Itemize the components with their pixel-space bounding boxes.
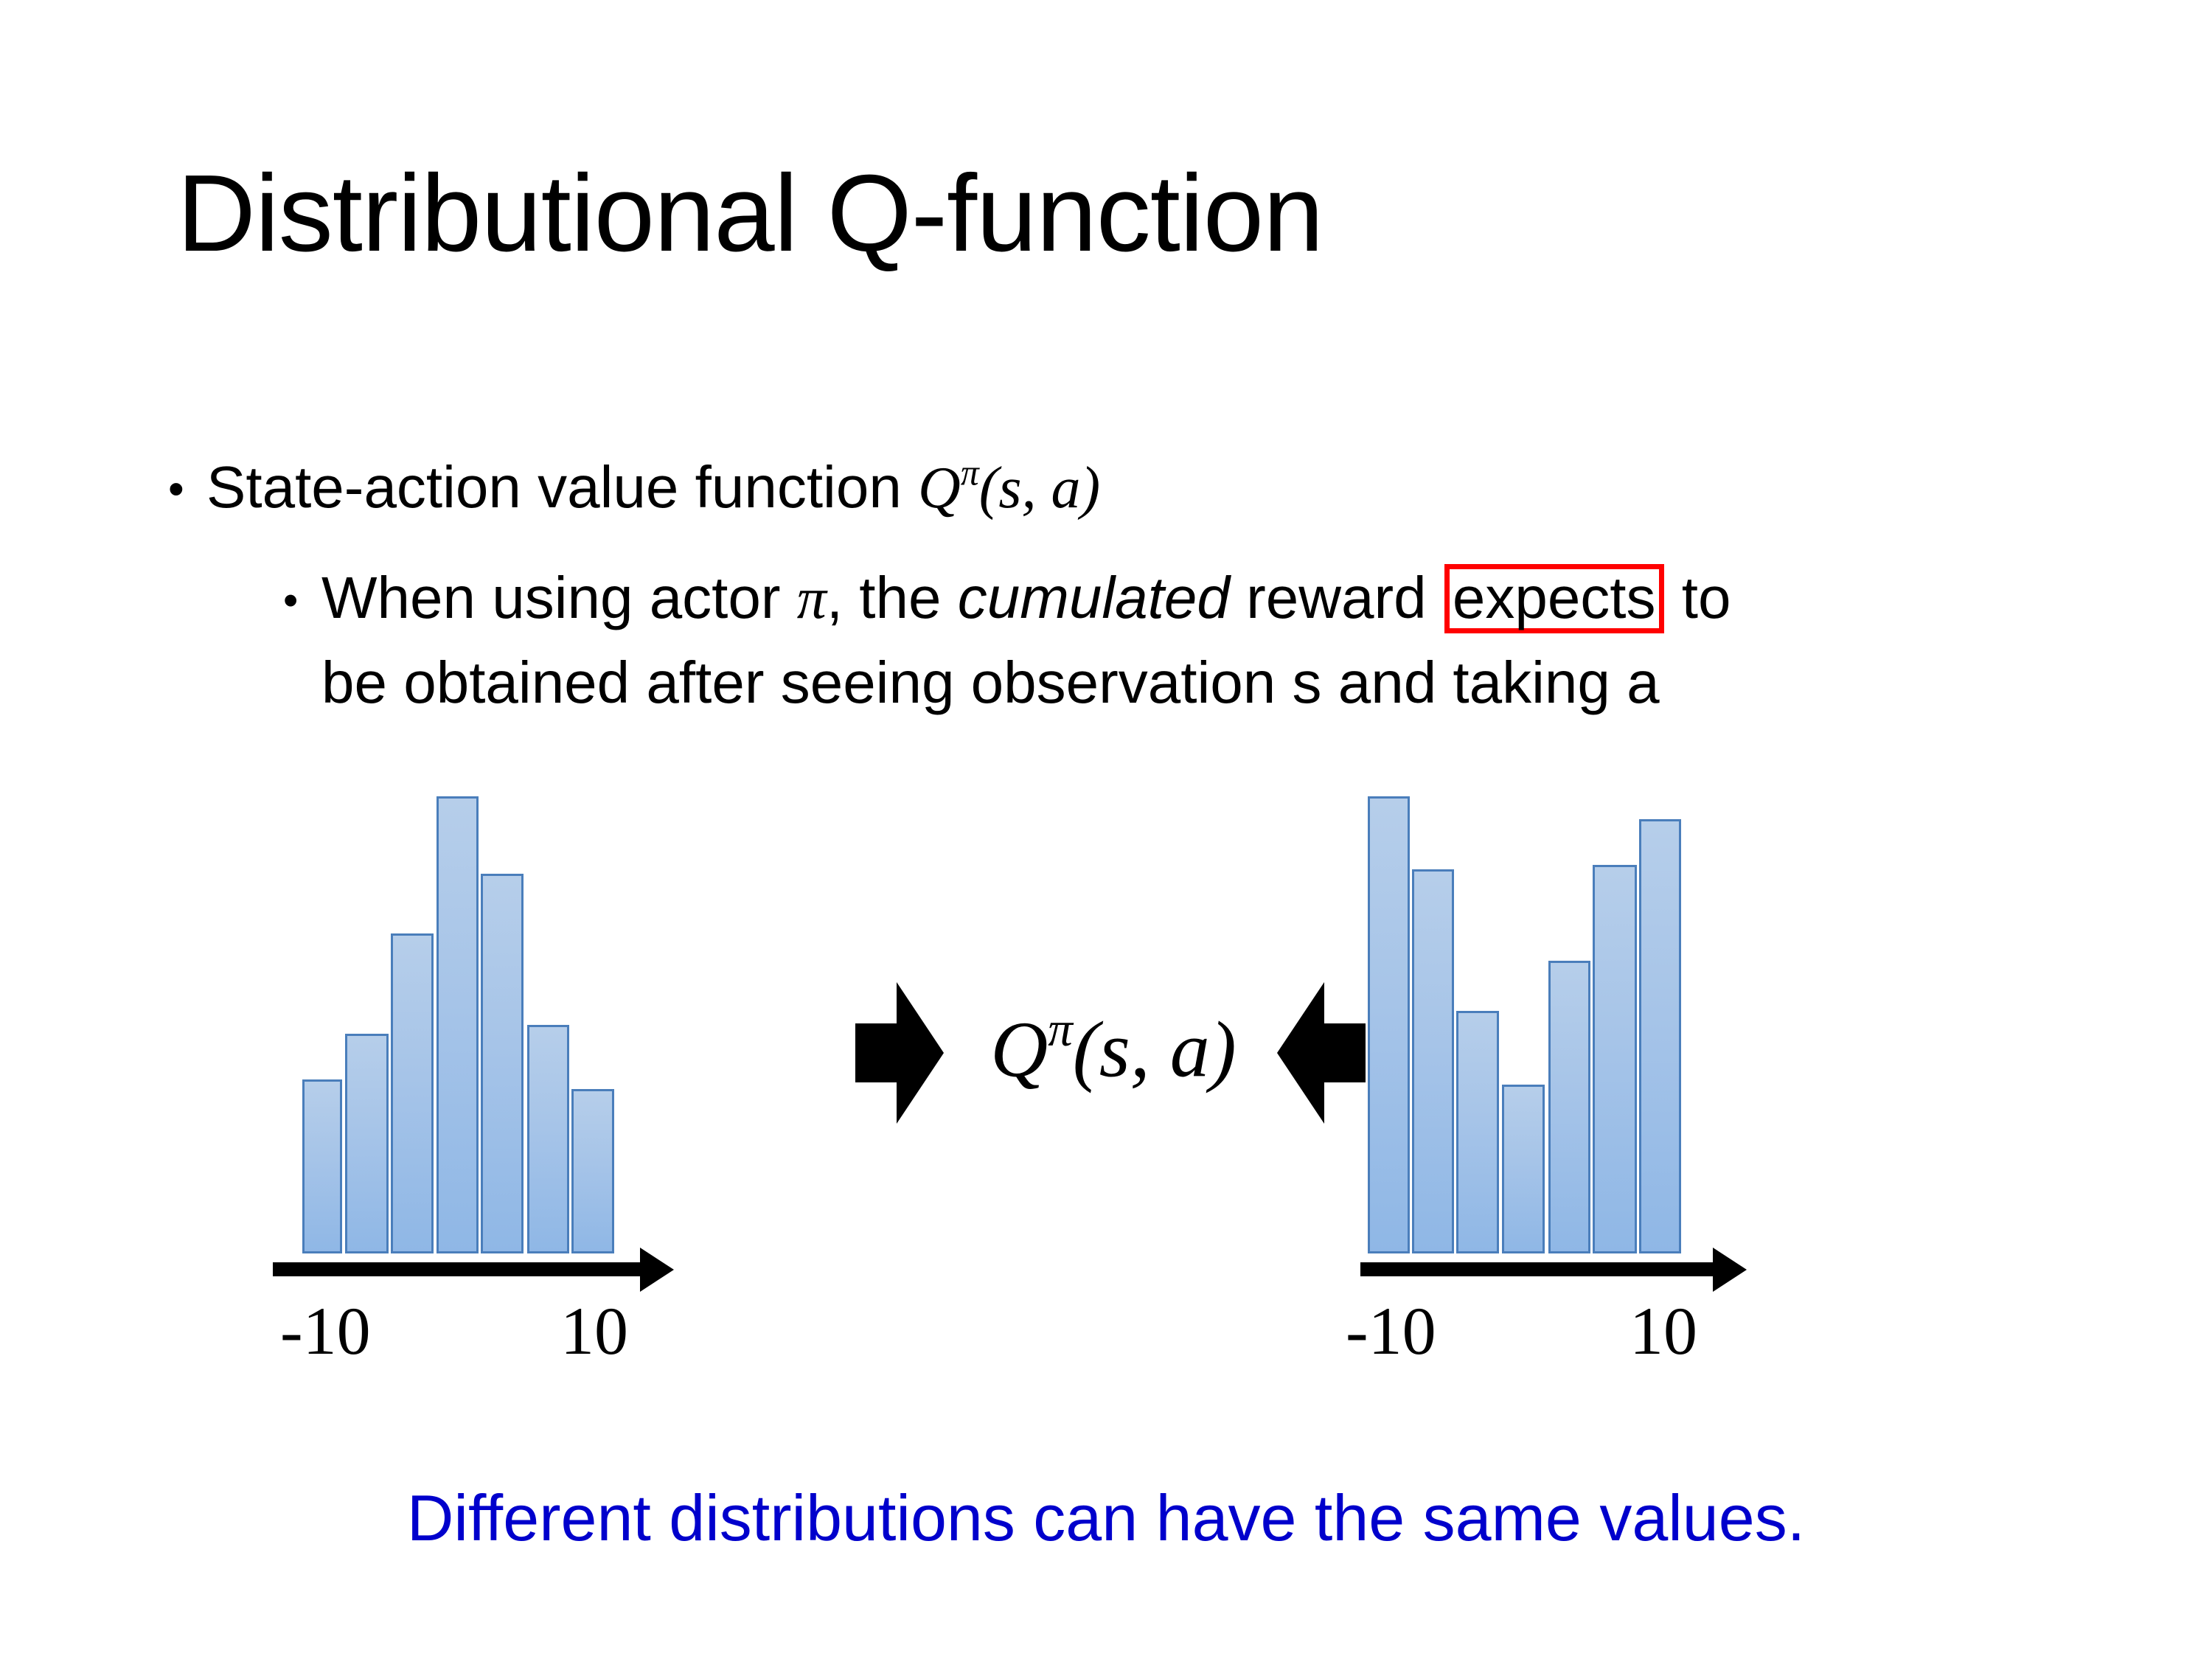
bullet-level2-line1: When using actor π, the cumulated reward… bbox=[321, 565, 1731, 630]
center-equivalence-group: Qπ(s, a) bbox=[855, 981, 1371, 1143]
center-q-formula: Qπ(s, a) bbox=[951, 1001, 1276, 1096]
center-pi-superscript: π bbox=[1048, 1002, 1073, 1057]
axis-tick-max-right: 10 bbox=[1630, 1292, 1697, 1370]
left-block-arrow-icon bbox=[1277, 981, 1366, 1125]
bar bbox=[1639, 819, 1681, 1253]
bar bbox=[1456, 1011, 1499, 1253]
chart-right-bars bbox=[1360, 796, 2024, 1253]
bar bbox=[391, 933, 434, 1253]
axis-tick-max-left: 10 bbox=[560, 1292, 628, 1370]
l2-text-part4: to bbox=[1666, 565, 1731, 630]
bar bbox=[1593, 865, 1637, 1253]
center-q-args: (s, a) bbox=[1073, 1006, 1237, 1094]
chart-right-x-axis bbox=[1360, 1248, 2024, 1292]
q-function-math-inline: Qπ(s, a) bbox=[918, 456, 1100, 521]
l2-text-part1: When using actor bbox=[321, 565, 797, 630]
bullet-marker-level2: • bbox=[283, 575, 321, 627]
slide-canvas: Distributional Q-function •State-action … bbox=[0, 0, 2212, 1659]
bar bbox=[345, 1034, 389, 1253]
axis-arrowhead-icon bbox=[1713, 1248, 1747, 1292]
l2-text-emphasis: cumulated bbox=[958, 565, 1230, 630]
pi-superscript: π bbox=[961, 452, 979, 493]
chart-left-bars bbox=[273, 796, 936, 1253]
bar bbox=[1548, 961, 1590, 1253]
chart-left-distribution: -10 10 bbox=[273, 796, 936, 1342]
bar bbox=[1412, 869, 1454, 1253]
q-symbol: Q bbox=[918, 456, 961, 521]
page-title: Distributional Q-function bbox=[177, 156, 2065, 271]
bullet-level1-text: State-action value function bbox=[206, 454, 918, 520]
right-block-arrow-icon bbox=[855, 981, 944, 1125]
bullet-level2-line2: be obtained after seeing observation s a… bbox=[321, 649, 1660, 717]
center-q-symbol: Q bbox=[990, 1006, 1048, 1094]
bullet-level2: •When using actor π, the cumulated rewar… bbox=[283, 562, 2053, 636]
axis-line bbox=[273, 1262, 641, 1276]
bar bbox=[1368, 796, 1410, 1253]
bar bbox=[571, 1089, 614, 1253]
q-args: (s, a) bbox=[979, 456, 1100, 521]
axis-line bbox=[1360, 1262, 1714, 1276]
chart-left-x-axis bbox=[273, 1248, 936, 1292]
bar bbox=[481, 874, 524, 1253]
bar bbox=[437, 796, 479, 1253]
bullet-marker-level1: • bbox=[168, 462, 206, 516]
axis-tick-min-right: -10 bbox=[1346, 1292, 1436, 1370]
pi-symbol: π bbox=[797, 566, 827, 631]
caption-text: Different distributions can have the sam… bbox=[0, 1481, 2212, 1556]
l2-text-part3: reward bbox=[1230, 565, 1443, 630]
bullet-level1: •State-action value function Qπ(s, a) bbox=[168, 451, 2085, 523]
highlight-box-expects: expects bbox=[1444, 564, 1664, 633]
chart-right-distribution: -10 10 bbox=[1360, 796, 2024, 1342]
bar bbox=[1502, 1085, 1545, 1253]
axis-arrowhead-icon bbox=[640, 1248, 674, 1292]
axis-tick-min-left: -10 bbox=[280, 1292, 371, 1370]
bar bbox=[302, 1079, 342, 1253]
bar bbox=[527, 1025, 569, 1253]
l2-text-part2: , the bbox=[827, 565, 958, 630]
